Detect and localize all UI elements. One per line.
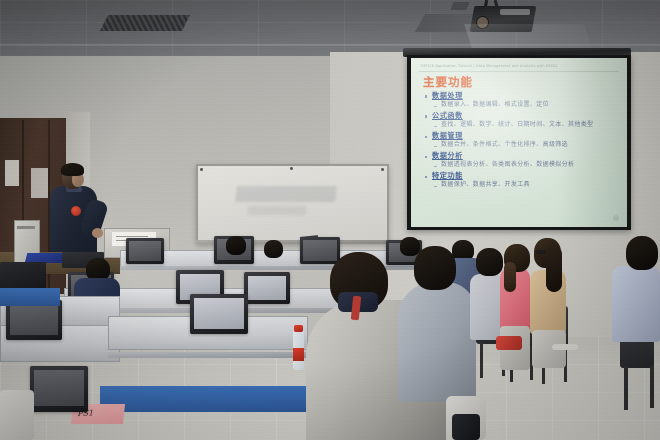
classroom-photo: OFFICE Application Tutorial | Data Manag… bbox=[0, 0, 660, 440]
attendee-blue-shirt-head bbox=[626, 236, 658, 270]
slide-bullet-heading: 数据管理 bbox=[425, 132, 619, 140]
monitor-screen bbox=[194, 298, 244, 329]
slide-group: 公式函数 查找、逻辑、数学、统计、日期时间、文本、其他类型 bbox=[425, 112, 619, 128]
water-bottle-cap bbox=[294, 325, 303, 332]
monitor-screen bbox=[129, 241, 161, 261]
chair-seat bbox=[552, 344, 578, 350]
projector-mount bbox=[451, 2, 470, 10]
attendee-pink-top-hair bbox=[504, 262, 516, 292]
slide-bullet-sub: 数据保护、数据共享、开发工具 bbox=[425, 182, 619, 189]
lectern-paper-line bbox=[116, 236, 148, 237]
attendee-blue-shirt-torso bbox=[612, 266, 660, 342]
slide-group: 特定功能 数据保护、数据共享、开发工具 bbox=[425, 172, 619, 188]
presenter-shirt-logo bbox=[71, 206, 81, 216]
slide-bullet-sub: 数据透视表分析、各类图表分析、数据模拟分析 bbox=[425, 162, 619, 169]
workstation-rail-front-mid bbox=[108, 352, 308, 358]
student-head bbox=[264, 240, 283, 258]
ceiling-seam bbox=[0, 44, 660, 46]
wall-notice-sheet-2 bbox=[31, 168, 48, 198]
attendee-blue-gray-head bbox=[414, 246, 456, 290]
ceiling-vent-icon bbox=[100, 15, 190, 31]
attendee-dark-trousers bbox=[452, 414, 480, 440]
chair-leg bbox=[624, 366, 628, 410]
slide-group: 数据分析 数据透视表分析、各类图表分析、数据模拟分析 bbox=[425, 152, 619, 168]
slide-bullet-heading: 数据处理 bbox=[425, 92, 619, 100]
slide-bullet-heading: 特定功能 bbox=[425, 172, 619, 180]
whiteboard-screw bbox=[381, 168, 384, 171]
monitor-screen bbox=[248, 276, 286, 300]
monitor-screen bbox=[34, 370, 84, 406]
attendee-tan-coat-hair bbox=[546, 246, 562, 292]
desk-blue-band-upper bbox=[0, 288, 60, 306]
foreground-pc-tower bbox=[0, 390, 34, 440]
student-head bbox=[226, 236, 246, 255]
chair-leg bbox=[480, 342, 483, 378]
slide-bullet-sub: 数据合并、条件格式、个性化排序、高级筛选 bbox=[425, 142, 619, 149]
slide-group: 数据处理 数据录入、数据编辑、格式设置、定位 bbox=[425, 92, 619, 108]
wall-notice-sheet bbox=[5, 160, 19, 186]
whiteboard-erased-marks-2 bbox=[248, 206, 306, 215]
slide-header-text: OFFICE Application Tutorial | Data Manag… bbox=[421, 64, 619, 68]
whiteboard bbox=[198, 166, 387, 242]
monitor-screen bbox=[303, 240, 337, 261]
projector-housing-highlight bbox=[500, 9, 530, 15]
presenter-hand bbox=[92, 228, 103, 238]
red-bag bbox=[496, 336, 522, 350]
slide-group: 数据管理 数据合并、条件格式、个性化排序、高级筛选 bbox=[425, 132, 619, 148]
whiteboard-screw bbox=[200, 168, 203, 171]
presenter-hair bbox=[61, 163, 84, 176]
tower-drive-slot bbox=[17, 226, 35, 229]
projection-screen-surface: OFFICE Application Tutorial | Data Manag… bbox=[411, 58, 627, 227]
glasses-icon bbox=[536, 250, 546, 254]
whiteboard-screw bbox=[290, 167, 293, 170]
projector-lens-icon bbox=[476, 16, 489, 29]
slide-bullet-heading: 公式函数 bbox=[425, 112, 619, 120]
water-bottle-label bbox=[293, 348, 304, 361]
slide-corner-mark bbox=[613, 215, 619, 221]
chair-leg bbox=[650, 366, 654, 408]
slide-bullet-list: 数据处理 数据录入、数据编辑、格式设置、定位 公式函数 查找、逻辑、数学、统计、… bbox=[425, 92, 619, 192]
slide-bullet-sub: 数据录入、数据编辑、格式设置、定位 bbox=[425, 102, 619, 109]
monitor-screen bbox=[10, 304, 58, 335]
attendee-dark-top-torso bbox=[470, 274, 504, 340]
whiteboard-erased-marks bbox=[235, 186, 337, 202]
attendee-blue-gray-torso bbox=[398, 282, 476, 402]
slide-bullet-heading: 数据分析 bbox=[425, 152, 619, 160]
desk-blue-band bbox=[100, 386, 310, 412]
slide-header-rule bbox=[419, 71, 619, 72]
slide-bullet-sub: 查找、逻辑、数学、统计、日期时间、文本、其他类型 bbox=[425, 122, 619, 129]
slide-title: 主要功能 bbox=[423, 74, 473, 90]
attendee-dark-top-head bbox=[476, 248, 503, 276]
